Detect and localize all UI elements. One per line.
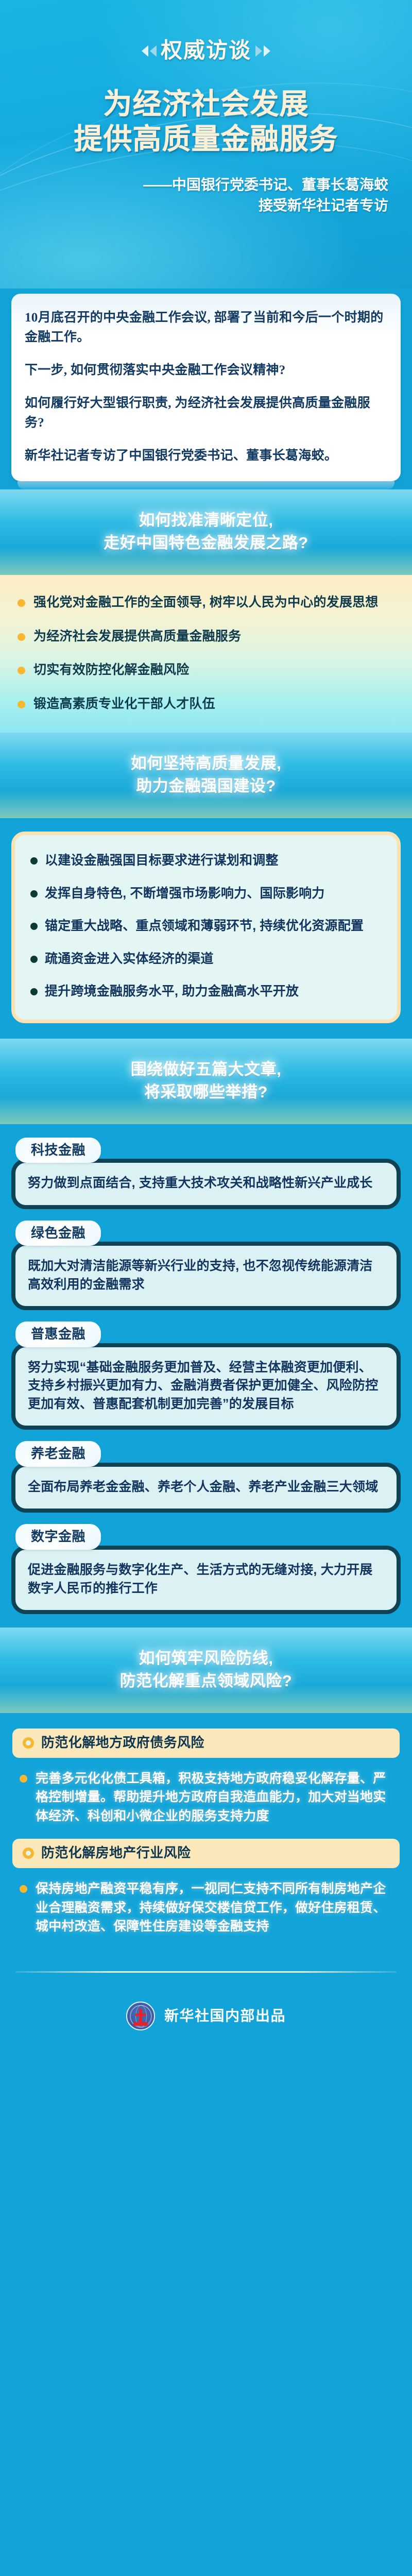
intro-card: 10月底召开的中央金融工作会议, 部署了当前和今后一个时期的金融工作。 下一步,… [11, 294, 401, 481]
risk-group: 防范化解房地产行业风险 保持房地产融资平稳有序，一视同仁支持不同所有制房地产企业… [12, 1839, 400, 1936]
topic-body: 努力实现“基础金融服务更加普及、经营主体融资更加便利、支持乡村振兴更加有力、金融… [11, 1343, 401, 1430]
bullet-dot-icon [30, 956, 38, 963]
topic-body: 努力做到点面结合, 支持重大技术攻关和战略性新兴产业成长 [11, 1159, 401, 1209]
section-header-2: 如何坚持高质量发展, 助力金融强国建设? [0, 733, 412, 818]
section-title-line: 助力金融强国建设? [15, 775, 397, 798]
section-title-line: 如何筑牢风险防线, [15, 1647, 397, 1670]
left-arrows-icon [142, 45, 157, 57]
list-item: 以建设金融强国目标要求进行谋划和调整 [30, 852, 383, 870]
bullet-dot-icon [18, 599, 25, 607]
topic-label: 养老金融 [15, 1441, 101, 1467]
section-title-3: 围绕做好五篇大文章, 将采取哪些举措? [15, 1058, 397, 1104]
risk-label-text: 防范化解地方政府债务风险 [41, 1735, 204, 1751]
section-title-line: 如何坚持高质量发展, [15, 752, 397, 775]
decorative-swoosh-3 [0, 46, 412, 289]
topic-item: 养老金融 全面布局养老金金融、养老个人金融、养老产业金融三大领域 [11, 1441, 401, 1513]
risk-group: 防范化解地方政府债务风险 完善多元化化债工具箱，积极支持地方政府稳妥化解存量、严… [12, 1728, 400, 1825]
bullet-text: 疏通资金进入实体经济的渠道 [45, 950, 214, 969]
risk-label-pill: 防范化解地方政府债务风险 [12, 1728, 400, 1758]
infographic-page: 权威访谈 为经济社会发展 提供高质量金融服务 ——中国银行党委书记、董事长葛海蛟… [0, 0, 412, 2576]
five-topics-list: 科技金融 努力做到点面结合, 支持重大技术攻关和战略性新兴产业成长 绿色金融 既… [0, 1124, 412, 1628]
topic-item: 科技金融 努力做到点面结合, 支持重大技术攻关和战略性新兴产业成长 [11, 1138, 401, 1209]
hero-banner: 权威访谈 为经济社会发展 提供高质量金融服务 ——中国银行党委书记、董事长葛海蛟… [0, 0, 412, 289]
bullet-text: 提升跨境金融服务水平, 助力金融高水平开放 [45, 982, 299, 1001]
footer: 新华社国内部出品 [0, 1954, 412, 2059]
section-header-4: 如何筑牢风险防线, 防范化解重点领域风险? [0, 1628, 412, 1713]
kicker-badge: 权威访谈 [0, 0, 412, 62]
page-subtitle: ——中国银行党委书记、董事长葛海蛟 接受新华社记者专访 [0, 175, 412, 216]
bullet-dot-icon [20, 1775, 27, 1783]
mint-bullet-card: 以建设金融强国目标要求进行谋划和调整 发挥自身特色, 不断增强市场影响力、国际影… [11, 832, 401, 1023]
list-item: 疏通资金进入实体经济的渠道 [30, 950, 383, 969]
intro-paragraph: 新华社记者专访了中国银行党委书记、董事长葛海蛟。 [25, 446, 387, 466]
footer-brand: 新华社国内部出品 [0, 2002, 412, 2030]
bullet-dot-icon [30, 857, 38, 865]
page-subtitle-line-1: ——中国银行党委书记、董事长葛海蛟 [0, 175, 388, 196]
bullet-dot-icon [18, 667, 25, 674]
bullet-dot-icon [18, 701, 25, 708]
intro-card-shadow [18, 481, 394, 489]
bullet-text: 以建设金融强国目标要求进行谋划和调整 [45, 852, 279, 870]
list-item: 为经济社会发展提供高质量金融服务 [18, 628, 394, 646]
page-title-line-2: 提供高质量金融服务 [0, 122, 412, 157]
triangle-left-dim-icon [150, 45, 157, 57]
bullet-dot-icon [30, 923, 38, 930]
section-title-4: 如何筑牢风险防线, 防范化解重点领域风险? [15, 1647, 397, 1692]
triangle-right-icon [264, 45, 270, 57]
bullet-text: 强化党对金融工作的全面领导, 树牢以人民为中心的发展思想 [33, 594, 379, 612]
section-title-2: 如何坚持高质量发展, 助力金融强国建设? [15, 752, 397, 798]
bullet-text: 锚定重大战略、重点领域和薄弱环节, 持续优化资源配置 [45, 917, 364, 936]
footer-divider [15, 1971, 397, 1973]
risk-body: 完善多元化化债工具箱，积极支持地方政府稳妥化解存量、严格控制增量。帮助提升地方政… [12, 1758, 400, 1826]
xinhua-logo-icon [126, 2002, 155, 2030]
section-title-line: 防范化解重点领域风险? [15, 1670, 397, 1692]
intro-paragraph: 10月底召开的中央金融工作会议, 部署了当前和今后一个时期的金融工作。 [25, 308, 387, 347]
page-subtitle-line-2: 接受新华社记者专访 [0, 195, 388, 216]
topic-text: 努力实现“基础金融服务更加普及、经营主体融资更加便利、支持乡村振兴更加有力、金融… [28, 1359, 384, 1414]
list-item: 锻造高素质专业化干部人才队伍 [18, 695, 394, 714]
section-header-3: 围绕做好五篇大文章, 将采取哪些举措? [0, 1039, 412, 1124]
bullet-text: 锻造高素质专业化干部人才队伍 [33, 695, 215, 714]
section-title-line: 将采取哪些举措? [15, 1081, 397, 1104]
list-item: 强化党对金融工作的全面领导, 树牢以人民为中心的发展思想 [18, 594, 394, 612]
list-item: 切实有效防控化解金融风险 [18, 661, 394, 680]
topic-item: 普惠金融 努力实现“基础金融服务更加普及、经营主体融资更加便利、支持乡村振兴更加… [11, 1321, 401, 1430]
topic-text: 促进金融服务与数字化生产、生活方式的无缝对接, 大力开展数字人民币的推行工作 [28, 1561, 384, 1598]
intro-paragraph: 如何履行好大型银行职责, 为经济社会发展提供高质量金融服务? [25, 394, 387, 433]
topic-label: 绿色金融 [15, 1221, 101, 1246]
donut-bullet-icon [23, 1737, 34, 1749]
section-title-line: 围绕做好五篇大文章, [15, 1058, 397, 1081]
topic-label: 普惠金融 [15, 1321, 101, 1347]
topic-item: 数字金融 促进金融服务与数字化生产、生活方式的无缝对接, 大力开展数字人民币的推… [11, 1524, 401, 1614]
donut-bullet-icon [23, 1848, 34, 1859]
triangle-right-dim-icon [255, 45, 262, 57]
section-title-1: 如何找准清晰定位, 走好中国特色金融发展之路? [15, 509, 397, 554]
risk-section: 防范化解地方政府债务风险 完善多元化化债工具箱，积极支持地方政府稳妥化解存量、严… [0, 1713, 412, 1954]
section-header-1: 如何找准清晰定位, 走好中国特色金融发展之路? [0, 489, 412, 575]
bullet-text: 为经济社会发展提供高质量金融服务 [33, 628, 241, 646]
footer-brand-text: 新华社国内部出品 [164, 2009, 286, 2023]
topic-body: 既加大对清洁能源等新兴行业的支持, 也不忽视传统能源清洁高效利用的金融需求 [11, 1242, 401, 1310]
triangle-left-icon [142, 45, 148, 57]
intro-paragraph: 下一步, 如何贯彻落实中央金融工作会议精神? [25, 361, 387, 380]
risk-text: 完善多元化化债工具箱，积极支持地方政府稳妥化解存量、严格控制增量。帮助提升地方政… [36, 1769, 394, 1826]
bullet-dot-icon [20, 1885, 27, 1893]
topic-text: 全面布局养老金金融、养老个人金融、养老产业金融三大领域 [28, 1478, 384, 1497]
section-1-bullets: 强化党对金融工作的全面领导, 树牢以人民为中心的发展思想 为经济社会发展提供高质… [0, 575, 412, 733]
list-item: 锚定重大战略、重点领域和薄弱环节, 持续优化资源配置 [30, 917, 383, 936]
list-item: 提升跨境金融服务水平, 助力金融高水平开放 [30, 982, 383, 1001]
topic-label: 数字金融 [15, 1524, 101, 1550]
risk-label-pill: 防范化解房地产行业风险 [12, 1839, 400, 1868]
topic-body: 全面布局养老金金融、养老个人金融、养老产业金融三大领域 [11, 1463, 401, 1513]
topic-label: 科技金融 [15, 1138, 101, 1163]
bullet-list: 以建设金融强国目标要求进行谋划和调整 发挥自身特色, 不断增强市场影响力、国际影… [30, 852, 383, 1001]
list-item: 发挥自身特色, 不断增强市场影响力、国际影响力 [30, 885, 383, 903]
bullet-list: 强化党对金融工作的全面领导, 树牢以人民为中心的发展思想 为经济社会发展提供高质… [18, 594, 394, 713]
tower-arm-icon [135, 2013, 146, 2016]
bullet-dot-icon [30, 890, 38, 897]
tower-base-icon [133, 2022, 148, 2026]
right-arrows-icon [255, 45, 270, 57]
risk-text: 保持房地产融资平稳有序，一视同仁支持不同所有制房地产企业合理融资需求，持续做好保… [36, 1879, 394, 1936]
topic-body: 促进金融服务与数字化生产、生活方式的无缝对接, 大力开展数字人民币的推行工作 [11, 1546, 401, 1614]
risk-label-text: 防范化解房地产行业风险 [41, 1845, 191, 1861]
risk-body: 保持房地产融资平稳有序，一视同仁支持不同所有制房地产企业合理融资需求，持续做好保… [12, 1868, 400, 1936]
topic-text: 既加大对清洁能源等新兴行业的支持, 也不忽视传统能源清洁高效利用的金融需求 [28, 1257, 384, 1294]
page-title-line-1: 为经济社会发展 [0, 87, 412, 122]
topic-item: 绿色金融 既加大对清洁能源等新兴行业的支持, 也不忽视传统能源清洁高效利用的金融… [11, 1221, 401, 1311]
kicker-label: 权威访谈 [161, 40, 251, 62]
section-2-bullets: 以建设金融强国目标要求进行谋划和调整 发挥自身特色, 不断增强市场影响力、国际影… [0, 818, 412, 1039]
page-title: 为经济社会发展 提供高质量金融服务 [0, 87, 412, 157]
bullet-text: 发挥自身特色, 不断增强市场影响力、国际影响力 [45, 885, 325, 903]
bullet-text: 切实有效防控化解金融风险 [33, 661, 189, 680]
bullet-dot-icon [18, 633, 25, 641]
bullet-dot-icon [30, 988, 38, 995]
section-title-line: 走好中国特色金融发展之路? [15, 532, 397, 554]
topic-text: 努力做到点面结合, 支持重大技术攻关和战略性新兴产业成长 [28, 1174, 384, 1193]
section-title-line: 如何找准清晰定位, [15, 509, 397, 532]
